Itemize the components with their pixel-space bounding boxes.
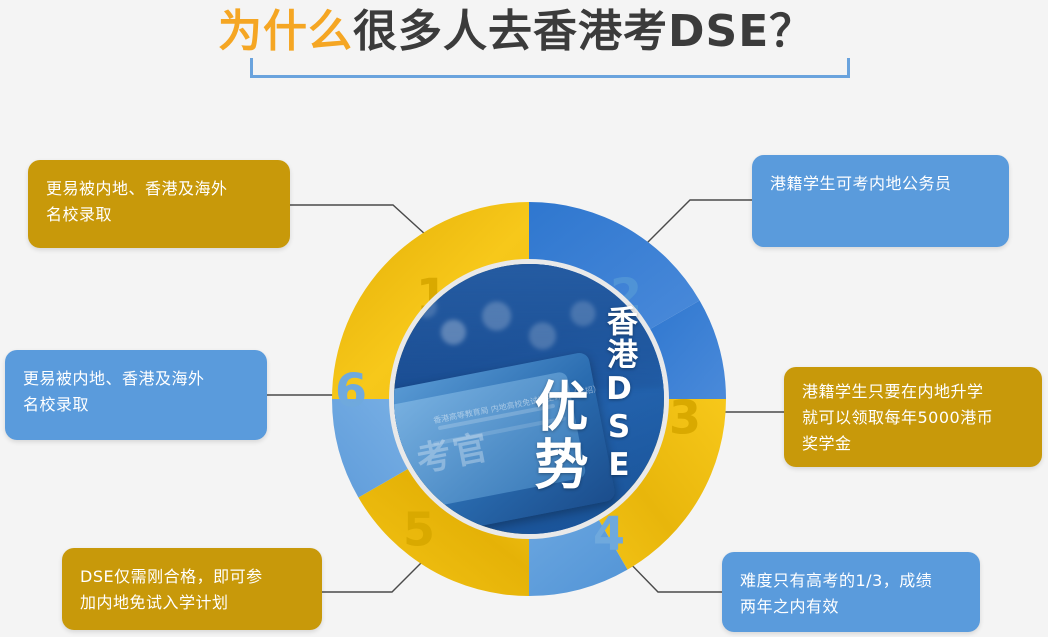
callout-top-right[interactable]: 港籍学生可考内地公务员 [752, 155, 1009, 247]
callout-bottom-right-line1: 难度只有高考的1/3，成绩 [740, 568, 962, 594]
callout-top-left-line1: 更易被内地、香港及海外 [46, 176, 272, 202]
callout-mid-right[interactable]: 港籍学生只要在内地升学 就可以领取每年5000港币 奖学金 [784, 367, 1042, 467]
callout-mid-left-line2: 名校录取 [23, 392, 249, 418]
title-highlight: 为什么 [218, 6, 353, 57]
callout-top-left-line2: 名校录取 [46, 202, 272, 228]
callout-bottom-left[interactable]: DSE仅需刚合格，即可参 加内地免试入学计划 [62, 548, 322, 630]
callout-bottom-left-line1: DSE仅需刚合格，即可参 [80, 564, 304, 590]
segment-number-3: 3 [669, 391, 701, 445]
callout-bottom-right[interactable]: 难度只有高考的1/3，成绩 两年之内有效 [722, 552, 980, 632]
callout-mid-left[interactable]: 更易被内地、香港及海外 名校录取 [5, 350, 267, 440]
title-underline-bracket [250, 58, 850, 78]
callout-bottom-right-line2: 两年之内有效 [740, 594, 962, 620]
callout-mid-right-line2: 就可以领取每年5000港币 [802, 405, 1024, 431]
center-label-title: 优势 [517, 378, 596, 494]
callout-bottom-left-line2: 加内地免试入学计划 [80, 590, 304, 616]
callout-mid-right-line3: 奖学金 [802, 431, 1024, 457]
page-title: 为什么很多人去香港考DSE？ [200, 2, 880, 62]
callout-top-left[interactable]: 更易被内地、香港及海外 名校录取 [28, 160, 290, 248]
segment-number-6: 6 [335, 364, 367, 418]
callout-mid-right-line1: 港籍学生只要在内地升学 [802, 379, 1024, 405]
center-label-brand: 香港DSE [597, 305, 642, 485]
infographic-canvas: 为什么很多人去香港考DSE？ [0, 0, 1048, 637]
callout-mid-left-line1: 更易被内地、香港及海外 [23, 366, 249, 392]
callout-top-right-line1: 港籍学生可考内地公务员 [770, 171, 991, 197]
title-rest: 很多人去香港考DSE？ [353, 6, 814, 57]
